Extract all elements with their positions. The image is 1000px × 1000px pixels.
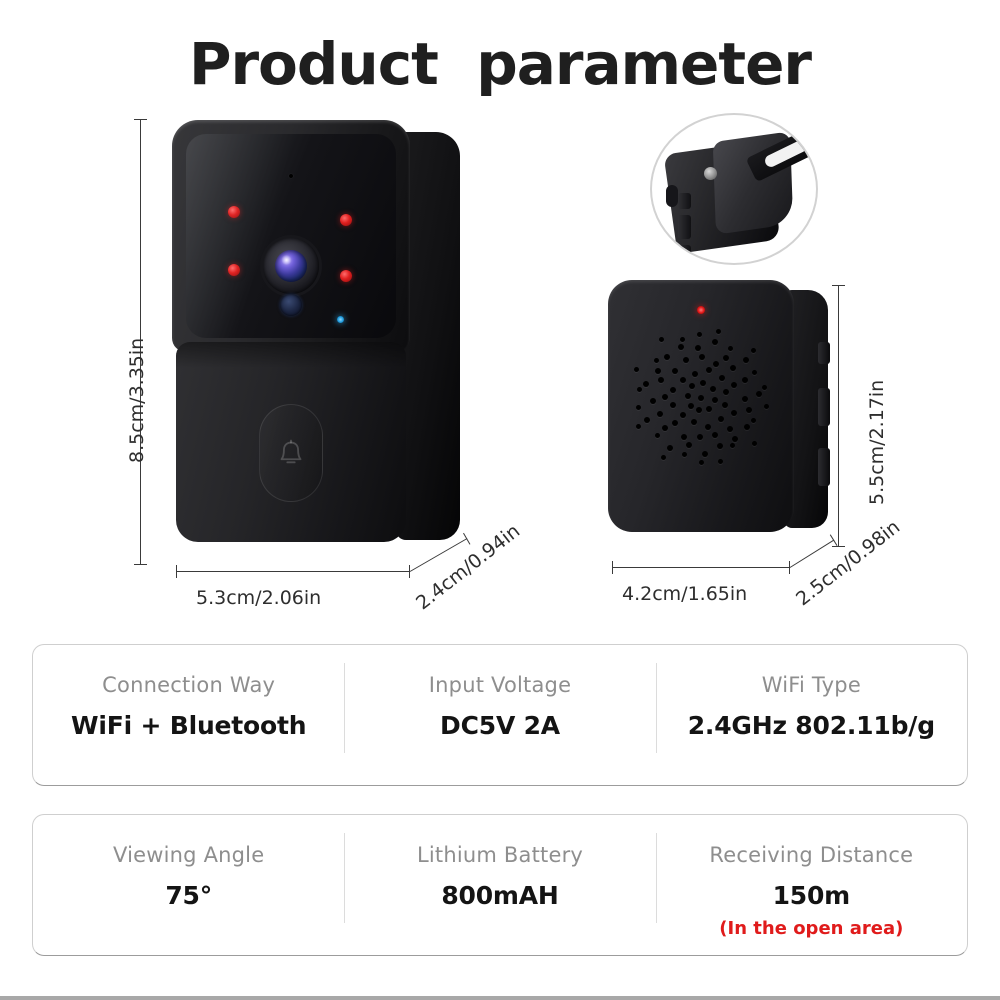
speaker-grille-hole — [731, 410, 737, 416]
doorbell-camera-head — [172, 120, 410, 352]
speaker-grille-hole — [683, 357, 689, 363]
speaker-grille-hole — [756, 391, 762, 397]
speaker-grille-hole — [713, 361, 719, 367]
ir-led-icon — [228, 206, 240, 218]
microphone-pinhole-icon — [289, 174, 293, 178]
speaker-grille-hole — [722, 402, 728, 408]
spec-label: WiFi Type — [762, 673, 861, 697]
spec-value: 150m — [773, 881, 850, 910]
speaker-grille-hole — [727, 426, 733, 432]
speaker-grille-hole — [637, 387, 642, 392]
spec-label: Connection Way — [102, 673, 275, 697]
speaker-grille-hole — [634, 367, 639, 372]
camera-lens-icon — [263, 238, 319, 294]
spec-cell-input-voltage: Input Voltage DC5V 2A — [344, 645, 655, 785]
chime-side-button — [678, 193, 691, 209]
product-parameter-page: Product parameter 8.5cm/3.35in — [0, 0, 1000, 1000]
speaker-grille-hole — [699, 354, 705, 360]
screw-icon — [704, 167, 717, 180]
spec-note: (In the open area) — [719, 918, 903, 939]
speaker-grille-hole — [654, 358, 659, 363]
speaker-grille-hole — [764, 404, 769, 409]
speaker-grille-hole — [751, 418, 756, 423]
speaker-grille-hole — [658, 377, 664, 383]
speaker-grille-hole — [689, 383, 695, 389]
pir-sensor-icon — [280, 294, 302, 316]
spec-value: WiFi + Bluetooth — [71, 711, 306, 740]
speaker-grille-hole — [678, 344, 684, 350]
speaker-grille-hole — [716, 329, 721, 334]
speaker-grille-hole — [719, 375, 725, 381]
chime-width-dimension-line — [612, 567, 790, 568]
ir-led-icon — [228, 264, 240, 276]
speaker-grille-hole — [752, 370, 757, 375]
ir-led-icon — [340, 270, 352, 282]
red-status-led-icon — [697, 306, 705, 314]
speaker-grille-hole — [672, 420, 678, 426]
spec-value: 75° — [165, 881, 212, 910]
spec-cell-connection-way: Connection Way WiFi + Bluetooth — [33, 645, 344, 785]
speaker-grille-hole — [743, 357, 749, 363]
camera-lens-glass — [275, 250, 307, 282]
doorbell-glass-panel — [186, 134, 396, 338]
speaker-grille-hole — [672, 368, 678, 374]
speaker-grille-hole — [680, 377, 686, 383]
speaker-grille-hole — [688, 403, 694, 409]
doorbell-width-label: 5.3cm/2.06in — [196, 587, 321, 609]
speaker-grille-hole — [680, 412, 686, 418]
speaker-grille-hole — [706, 406, 712, 412]
speaker-grille-hole — [762, 385, 767, 390]
usb-plug-detail-callout — [650, 113, 818, 265]
bottom-divider — [0, 996, 1000, 1000]
speaker-grille-hole — [731, 382, 737, 388]
blue-status-led-icon — [337, 316, 344, 323]
chime-width-label: 4.2cm/1.65in — [622, 583, 747, 605]
speaker-grille-hole — [706, 367, 712, 373]
speaker-grille-hole — [685, 393, 691, 399]
speaker-grille-hole — [742, 396, 748, 402]
video-doorbell-product — [172, 120, 460, 545]
speaker-grille-hole — [751, 348, 756, 353]
speaker-grille-hole — [670, 402, 676, 408]
speaker-grille-hole — [670, 387, 676, 393]
speaker-grille-hole — [655, 368, 661, 374]
product-illustration-stage: 8.5cm/3.35in — [0, 105, 1000, 630]
spec-card-row-2: Viewing Angle 75° Lithium Battery 800mAH… — [32, 814, 968, 956]
speaker-grille-hole — [718, 416, 724, 422]
speaker-grille-hole — [732, 436, 738, 442]
chime-side-button — [678, 215, 691, 239]
speaker-grille-hole — [655, 433, 660, 438]
chime-side-button — [678, 245, 691, 265]
speaker-grille-hole — [698, 395, 704, 401]
spec-value: 2.4GHz 802.11b/g — [688, 711, 935, 740]
speaker-grille-hole — [700, 380, 706, 386]
speaker-grille-hole — [664, 354, 670, 360]
chime-height-label: 5.5cm/2.17in — [866, 380, 888, 505]
chime-side-nub — [666, 185, 678, 207]
speaker-grille-hole — [742, 377, 748, 383]
chime-front-face — [608, 280, 794, 532]
speaker-grille-hole — [712, 339, 718, 345]
chime-height-dimension-line — [838, 285, 839, 547]
ir-led-icon — [340, 214, 352, 226]
speaker-grille-hole — [730, 365, 736, 371]
doorbell-lower-body — [176, 342, 406, 542]
chime-side-button[interactable] — [818, 342, 830, 364]
speaker-grille-hole — [686, 442, 692, 448]
speaker-grille-hole — [744, 424, 750, 430]
speaker-grille-hole — [662, 425, 668, 431]
speaker-grille-hole — [696, 407, 702, 413]
bell-icon — [274, 436, 308, 470]
speaker-grille-hole — [697, 434, 703, 440]
speaker-grille-hole — [680, 337, 685, 342]
speaker-grille-hole — [746, 407, 752, 413]
chime-side-button[interactable] — [818, 448, 830, 486]
speaker-grille-hole — [697, 332, 702, 337]
speaker-grille-hole — [730, 443, 735, 448]
spec-card-row-1: Connection Way WiFi + Bluetooth Input Vo… — [32, 644, 968, 786]
speaker-grille-hole — [662, 394, 668, 400]
wireless-chime-product — [608, 280, 828, 538]
spec-cell-lithium-battery: Lithium Battery 800mAH — [344, 815, 655, 955]
spec-cell-wifi-type: WiFi Type 2.4GHz 802.11b/g — [656, 645, 967, 785]
speaker-grille-hole — [695, 345, 701, 351]
speaker-grille-hole — [712, 432, 718, 438]
speaker-grille-hole — [710, 386, 716, 392]
spec-label: Lithium Battery — [417, 843, 583, 867]
doorbell-front-body — [172, 120, 410, 542]
speaker-grille-hole — [636, 424, 641, 429]
speaker-grille-hole — [692, 371, 698, 377]
speaker-grille-hole — [650, 398, 656, 404]
speaker-grille-hole — [643, 381, 649, 387]
speaker-grille-hole — [691, 419, 697, 425]
spec-cell-viewing-angle: Viewing Angle 75° — [33, 815, 344, 955]
speaker-grille-hole — [682, 452, 687, 457]
speaker-grille-hole — [636, 405, 641, 410]
chime-side-button[interactable] — [818, 388, 830, 426]
page-title: Product parameter — [0, 30, 1000, 98]
speaker-grille-hole — [705, 424, 711, 430]
spec-label: Viewing Angle — [113, 843, 264, 867]
spec-value: 800mAH — [441, 881, 558, 910]
speaker-grille-hole — [702, 451, 708, 457]
speaker-grille-hole — [699, 460, 704, 465]
spec-value: DC5V 2A — [440, 711, 560, 740]
speaker-grille-hole — [718, 459, 723, 464]
spec-cell-receiving-distance: Receiving Distance 150m (In the open are… — [656, 815, 967, 955]
speaker-grille-hole — [723, 355, 729, 361]
speaker-grille-hole — [723, 389, 729, 395]
speaker-grille-hole — [644, 417, 650, 423]
speaker-grille-hole — [661, 455, 666, 460]
speaker-grille-hole — [657, 411, 663, 417]
spec-label: Receiving Distance — [709, 843, 913, 867]
speaker-grille-hole — [728, 346, 733, 351]
spec-label: Input Voltage — [429, 673, 571, 697]
speaker-grille-hole — [659, 337, 664, 342]
speaker-grille-hole — [667, 445, 673, 451]
doorbell-height-label: 8.5cm/3.35in — [126, 338, 148, 463]
speaker-grille-hole — [717, 443, 723, 449]
doorbell-press-button[interactable] — [259, 404, 323, 502]
speaker-grille-hole — [752, 441, 757, 446]
speaker-grille-hole — [712, 397, 718, 403]
doorbell-width-dimension-line — [176, 571, 410, 572]
speaker-grille-hole — [681, 434, 687, 440]
